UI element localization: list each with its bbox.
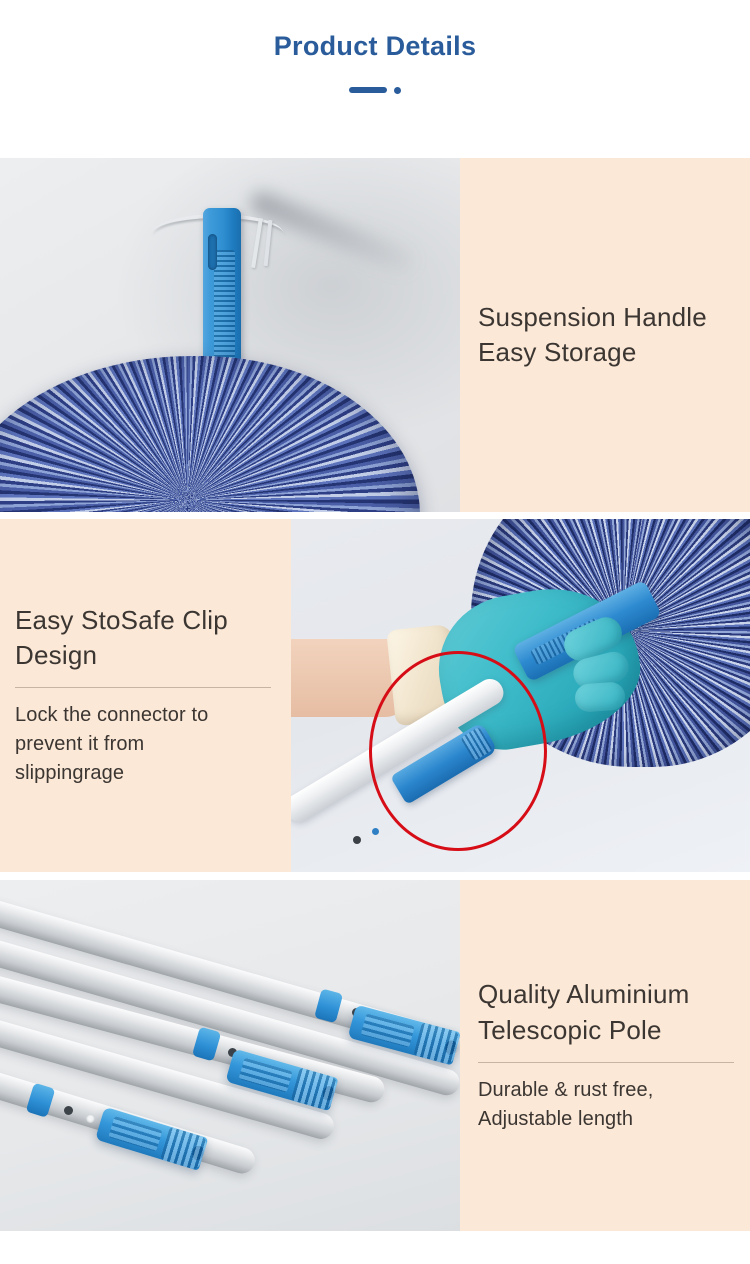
feature-body-line: Lock the connector to <box>15 701 271 730</box>
feature-title-line: Easy StoSafe Clip <box>15 603 271 638</box>
feature-rule <box>15 687 271 688</box>
feature-body-line: Adjustable length <box>478 1105 750 1134</box>
feature-body-line: Durable & rust free, <box>478 1076 750 1105</box>
feature-title: Suspension Handle Easy Storage <box>478 300 750 370</box>
feature-rule <box>478 1062 734 1063</box>
product-photo-telescopic-pole: Three grey aluminium telescopic poles wi… <box>0 880 460 1231</box>
product-photo-suspension-handle: Blue duster with suspension handle hangi… <box>0 158 460 512</box>
pole-adjust-hole <box>86 1114 95 1123</box>
feature-panel-telescopic-pole: Three grey aluminium telescopic poles wi… <box>0 880 750 1231</box>
feature-title-line: Design <box>15 638 271 673</box>
feature-title: Quality Aluminium Telescopic Pole <box>478 977 750 1047</box>
red-circle-annotation-icon <box>369 651 547 851</box>
feature-panel-suspension-handle: Blue duster with suspension handle hangi… <box>0 158 750 512</box>
product-photo-stosafe-clip: Gloved hand holding duster handle with r… <box>291 519 750 872</box>
feature-title: Easy StoSafe Clip Design <box>15 603 271 673</box>
pole-adjust-hole <box>353 836 361 844</box>
pole-adjust-hole <box>372 828 379 835</box>
feature-body: Lock the connector to prevent it from sl… <box>15 701 271 788</box>
feature-text-telescopic-pole: Quality Aluminium Telescopic Pole Durabl… <box>460 880 750 1231</box>
feature-body: Durable & rust free, Adjustable length <box>478 1076 750 1134</box>
page-title: Product Details <box>274 32 477 62</box>
handle-hang-slot <box>208 234 217 270</box>
feature-title-line: Telescopic Pole <box>478 1013 750 1048</box>
feature-body-line: slippingrage <box>15 759 271 788</box>
feature-text-stosafe-clip: Easy StoSafe Clip Design Lock the connec… <box>0 519 291 872</box>
page-header: Product Details <box>0 0 750 158</box>
feature-text-suspension-handle: Suspension Handle Easy Storage <box>460 158 750 512</box>
feature-title-line: Quality Aluminium <box>478 977 750 1012</box>
divider-dot-icon <box>394 87 401 94</box>
glove-finger <box>574 681 626 712</box>
divider-bar-icon <box>349 87 387 93</box>
feature-body-line: prevent it from <box>15 730 271 759</box>
feature-title-line: Suspension Handle <box>478 300 750 335</box>
pole-adjust-hole <box>64 1106 73 1115</box>
feature-title-line: Easy Storage <box>478 335 750 370</box>
title-divider <box>349 87 401 94</box>
feature-panel-stosafe-clip: Easy StoSafe Clip Design Lock the connec… <box>0 519 750 872</box>
